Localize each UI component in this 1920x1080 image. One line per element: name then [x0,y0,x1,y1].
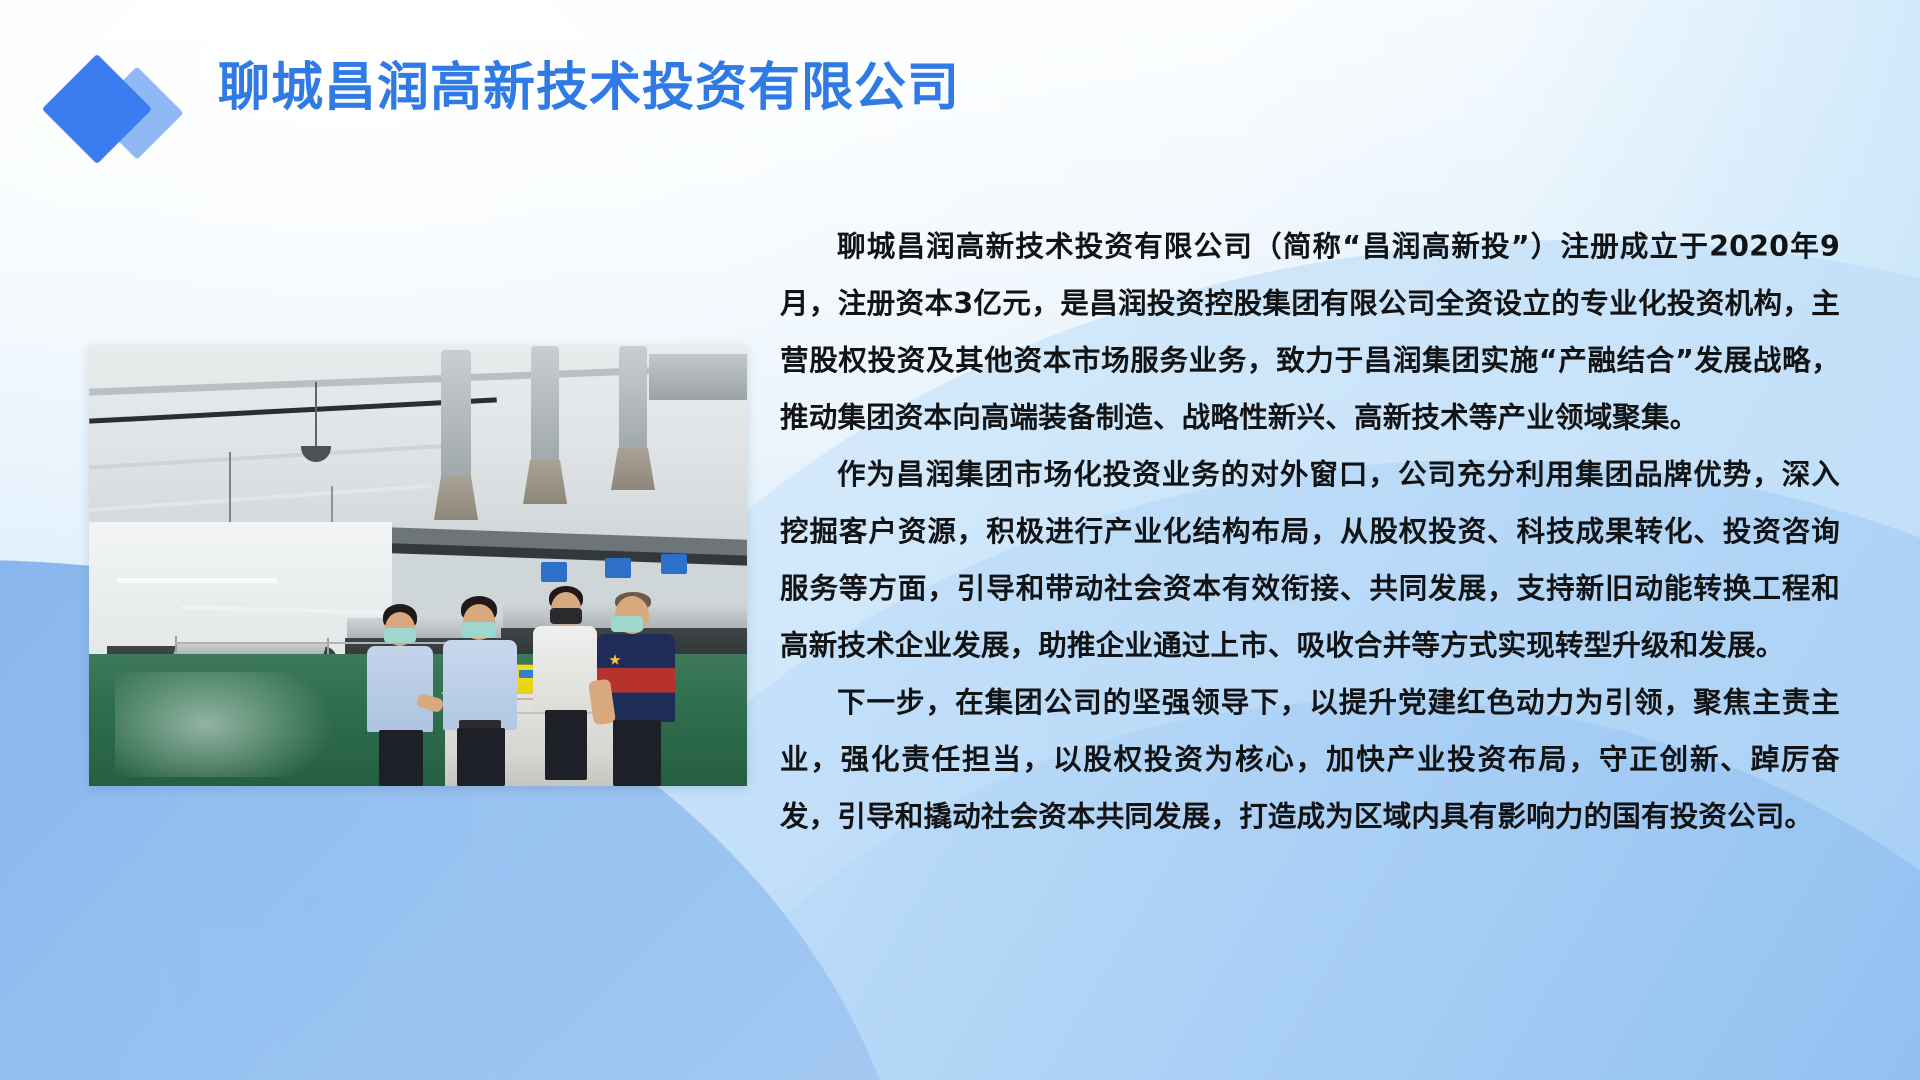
photo-duct-cone [611,448,655,490]
factory-photo-content [89,346,747,786]
photo-duct [649,354,747,400]
company-logo [44,58,194,158]
photo-person-2 [441,596,525,786]
photo-lamp-cord [315,382,317,448]
photo-duct-cone [434,476,478,520]
body-article: 聊城昌润高新技术投资有限公司（简称“昌润高新投”）注册成立于2020年9月，注册… [780,218,1840,845]
photo-duct [619,346,647,454]
slide-header: 聊城昌润高新技术投资有限公司 [0,46,1920,156]
paragraph-3: 下一步，在集团公司的坚强领导下，以提升党建红色动力为引领，聚焦主责主业，强化责任… [780,674,1840,845]
photo-blue-drum [541,562,567,582]
photo-blue-drum [605,558,631,578]
photo-person-1 [365,604,443,786]
photo-person-4 [595,592,683,786]
photo-duct [531,346,559,466]
factory-photo [89,346,747,786]
slide-root: 聊城昌润高新技术投资有限公司 [0,0,1920,1080]
photo-duct-cone [523,460,567,504]
page-title: 聊城昌润高新技术投资有限公司 [218,60,960,117]
photo-lamp-cord [229,452,231,530]
paragraph-2: 作为昌润集团市场化投资业务的对外窗口，公司充分利用集团品牌优势，深入挖掘客户资源… [780,446,1840,674]
paragraph-1: 聊城昌润高新技术投资有限公司（简称“昌润高新投”）注册成立于2020年9月，注册… [780,218,1840,446]
photo-duct [441,350,471,482]
photo-light-strip [117,578,277,583]
photo-blue-drum [661,554,687,574]
